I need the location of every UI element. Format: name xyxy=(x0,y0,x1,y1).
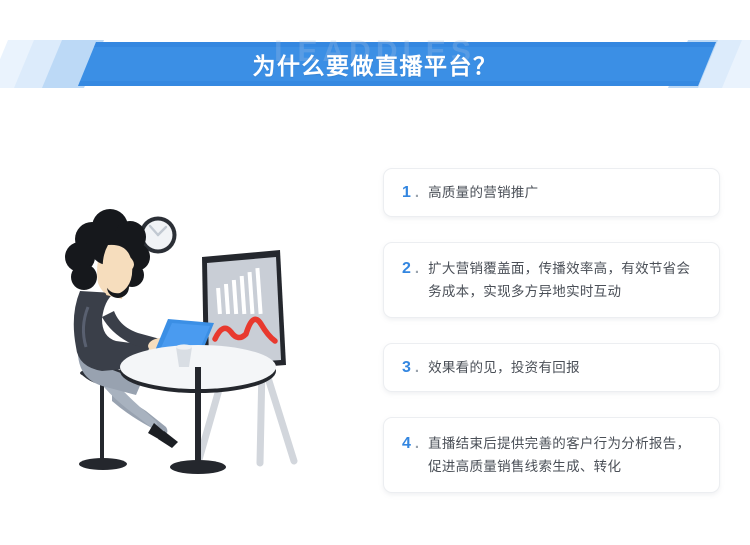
feature-dot-1: . xyxy=(415,181,419,204)
stool-pole xyxy=(100,381,104,465)
feature-number-3: 3 xyxy=(402,356,411,379)
feature-dot-4: . xyxy=(415,432,419,455)
feature-text-4: 直播结束后提供完善的客户行为分析报告，促进高质量销售线索生成、转化 xyxy=(428,432,701,478)
feature-text-3: 效果看的见，投资有回报 xyxy=(428,356,701,379)
feature-card-3[interactable]: 3 . 效果看的见，投资有回报 xyxy=(383,343,720,392)
feature-number-4: 4 xyxy=(402,432,411,455)
feature-card-1[interactable]: 1 . 高质量的营销推广 xyxy=(383,168,720,217)
feature-text-1: 高质量的营销推广 xyxy=(428,181,701,204)
feature-number-1: 1 xyxy=(402,181,411,204)
banner-band-bottom-edge xyxy=(78,81,700,86)
feature-card-4[interactable]: 4 . 直播结束后提供完善的客户行为分析报告，促进高质量销售线索生成、转化 xyxy=(383,417,720,493)
table-pole xyxy=(195,367,201,467)
banner-shape xyxy=(0,38,750,90)
header-banner: LEADDLES 为什么要做直播平台？ xyxy=(0,38,750,90)
feature-dot-3: . xyxy=(415,356,419,379)
feature-list: 1 . 高质量的营销推广 2 . 扩大营销覆盖面，传播效率高，有效节省会务成本，… xyxy=(383,168,720,518)
illustration-svg xyxy=(50,195,370,495)
feature-text-2: 扩大营销覆盖面，传播效率高，有效节省会务成本，实现多方异地实时互动 xyxy=(428,257,701,303)
illustration xyxy=(50,195,370,495)
banner-band-top-edge xyxy=(94,42,716,47)
banner-band xyxy=(78,42,716,86)
feature-dot-2: . xyxy=(415,257,419,280)
feature-number-2: 2 xyxy=(402,257,411,280)
table-base xyxy=(170,460,226,474)
feature-card-2[interactable]: 2 . 扩大营销覆盖面，传播效率高，有效节省会务成本，实现多方异地实时互动 xyxy=(383,242,720,318)
